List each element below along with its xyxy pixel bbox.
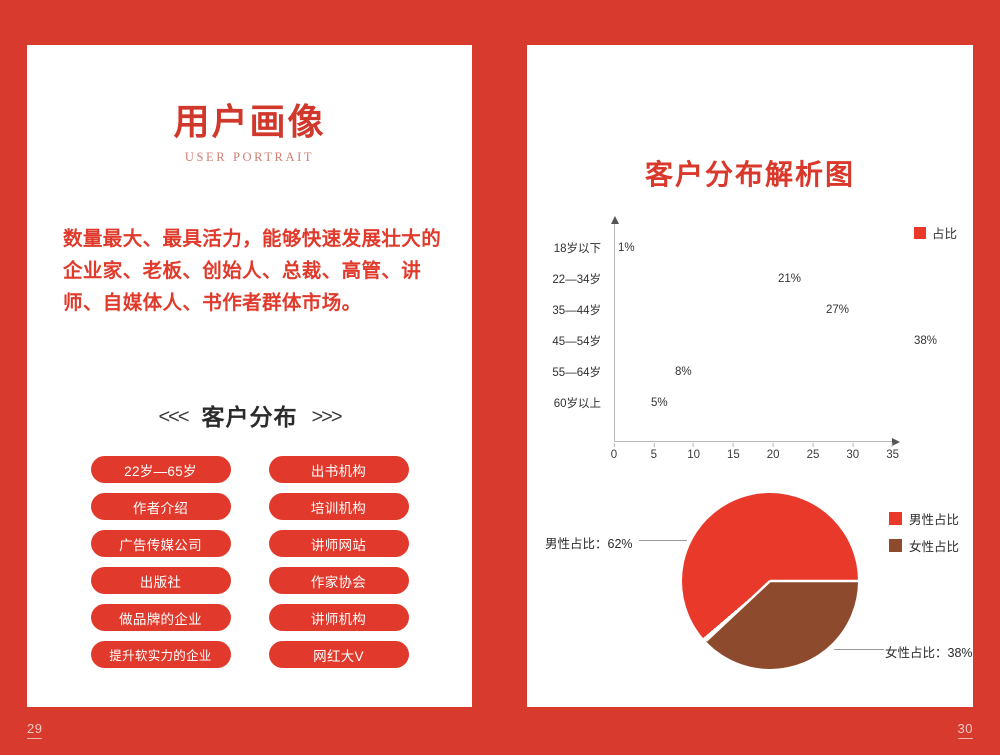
slide-page: 用户画像 USER PORTRAIT 数量最大、最具活力，能够快速发展壮大的企业…	[0, 0, 1000, 755]
chart-page-title: 客户分布解析图	[527, 153, 973, 193]
x-tick-label: 0	[611, 449, 617, 461]
right-slide-card: 客户分布解析图 占比 18岁以下 1% 22—34岁	[527, 45, 973, 707]
bar-category-label: 18岁以下	[535, 240, 607, 256]
portrait-header: 用户画像 USER PORTRAIT	[27, 103, 472, 165]
right-arrows-icon: >>>	[312, 406, 341, 428]
x-tick-label: 25	[807, 449, 820, 461]
pill-column-right: 出书机构 培训机构 讲师网站 作家协会 讲师机构 网红大V	[269, 456, 409, 668]
bar-value-label: 38%	[910, 335, 937, 347]
bar-track: 38%	[607, 330, 965, 351]
pill-item[interactable]: 讲师网站	[269, 530, 409, 557]
pill-item[interactable]: 做品牌的企业	[91, 604, 231, 631]
bar-row: 55—64岁 8%	[535, 361, 965, 382]
pill-item[interactable]: 提升软实力的企业	[91, 641, 231, 668]
tick-mark	[812, 443, 813, 447]
bar-value-label: 21%	[774, 273, 801, 285]
page-title: 用户画像	[27, 103, 472, 143]
lead-paragraph: 数量最大、最具活力，能够快速发展壮大的企业家、老板、创始人、总裁、高管、讲师、自…	[63, 223, 446, 319]
bar-track: 1%	[607, 237, 965, 258]
pie-legend-item-female: 女性占比	[889, 536, 959, 555]
bar-category-label: 60岁以上	[535, 395, 607, 411]
bar-category-label: 22—34岁	[535, 271, 607, 287]
bar-value-label: 8%	[671, 366, 692, 378]
x-axis-ticks: 0 5 10 15 20 25 30 35	[614, 443, 892, 465]
pill-grid: 22岁—65岁 作者介绍 广告传媒公司 出版社 做品牌的企业 提升软实力的企业 …	[27, 456, 472, 668]
legend-label: 男性占比	[909, 509, 959, 528]
bar-track: 27%	[607, 299, 965, 320]
customer-distribution-heading: <<<客户分布>>>	[27, 398, 472, 432]
pie-chart: 男性占比：62% 女性占比：38% 男性占比 女性占比	[527, 485, 973, 700]
legend-swatch-icon	[889, 512, 902, 525]
bar-track: 21%	[607, 268, 965, 289]
bar-rows: 18岁以下 1% 22—34岁 21% 35—44岁	[535, 237, 965, 423]
pill-item[interactable]: 出版社	[91, 567, 231, 594]
page-number-right: 30	[958, 721, 973, 739]
pill-item[interactable]: 讲师机构	[269, 604, 409, 631]
tick-mark	[614, 443, 615, 447]
bar-row: 22—34岁 21%	[535, 268, 965, 289]
bar-category-label: 55—64岁	[535, 364, 607, 380]
tick-mark	[733, 443, 734, 447]
x-tick-label: 5	[651, 449, 657, 461]
pie-annotation-male: 男性占比：62%	[545, 533, 633, 552]
x-tick-label: 15	[727, 449, 740, 461]
pie-legend-item-male: 男性占比	[889, 509, 959, 528]
left-slide-card: 用户画像 USER PORTRAIT 数量最大、最具活力，能够快速发展壮大的企业…	[27, 45, 472, 707]
x-tick-label: 35	[886, 449, 899, 461]
legend-swatch-icon	[889, 539, 902, 552]
bar-value-label: 1%	[614, 242, 635, 254]
bar-row: 45—54岁 38%	[535, 330, 965, 351]
pill-item[interactable]: 网红大V	[269, 641, 409, 668]
pill-column-left: 22岁—65岁 作者介绍 广告传媒公司 出版社 做品牌的企业 提升软实力的企业	[91, 456, 231, 668]
bar-row: 35—44岁 27%	[535, 299, 965, 320]
bar-row: 60岁以上 5%	[535, 392, 965, 413]
pie-leader-line-male	[639, 540, 687, 541]
pie-slice-divider	[682, 493, 858, 669]
x-tick-label: 30	[846, 449, 859, 461]
bar-value-label: 5%	[647, 397, 668, 409]
bar-category-label: 45—54岁	[535, 333, 607, 349]
x-axis-line	[614, 441, 892, 442]
pill-item[interactable]: 作家协会	[269, 567, 409, 594]
page-subtitle: USER PORTRAIT	[27, 150, 472, 165]
tick-mark	[892, 443, 893, 447]
bar-track: 5%	[607, 392, 965, 413]
bar-chart: 占比 18岁以下 1% 22—34岁 21%	[535, 215, 965, 465]
pie-chart-legend: 男性占比 女性占比	[889, 509, 959, 555]
x-tick-label: 10	[687, 449, 700, 461]
bar-track: 8%	[607, 361, 965, 382]
bar-value-label: 27%	[822, 304, 849, 316]
bar-row: 18岁以下 1%	[535, 237, 965, 258]
tick-mark	[693, 443, 694, 447]
section-heading-label: 客户分布	[202, 404, 298, 430]
page-number-left: 29	[27, 721, 42, 739]
legend-label: 女性占比	[909, 536, 959, 555]
pie-leader-line-female	[834, 649, 884, 650]
left-arrows-icon: <<<	[158, 406, 187, 428]
pill-item[interactable]: 22岁—65岁	[91, 456, 231, 483]
x-tick-label: 20	[767, 449, 780, 461]
tick-mark	[852, 443, 853, 447]
pill-item[interactable]: 广告传媒公司	[91, 530, 231, 557]
bar-category-label: 35—44岁	[535, 302, 607, 318]
tick-mark	[653, 443, 654, 447]
pill-item[interactable]: 作者介绍	[91, 493, 231, 520]
pie-annotation-female: 女性占比：38%	[885, 642, 973, 661]
pill-item[interactable]: 出书机构	[269, 456, 409, 483]
tick-mark	[773, 443, 774, 447]
pill-item[interactable]: 培训机构	[269, 493, 409, 520]
